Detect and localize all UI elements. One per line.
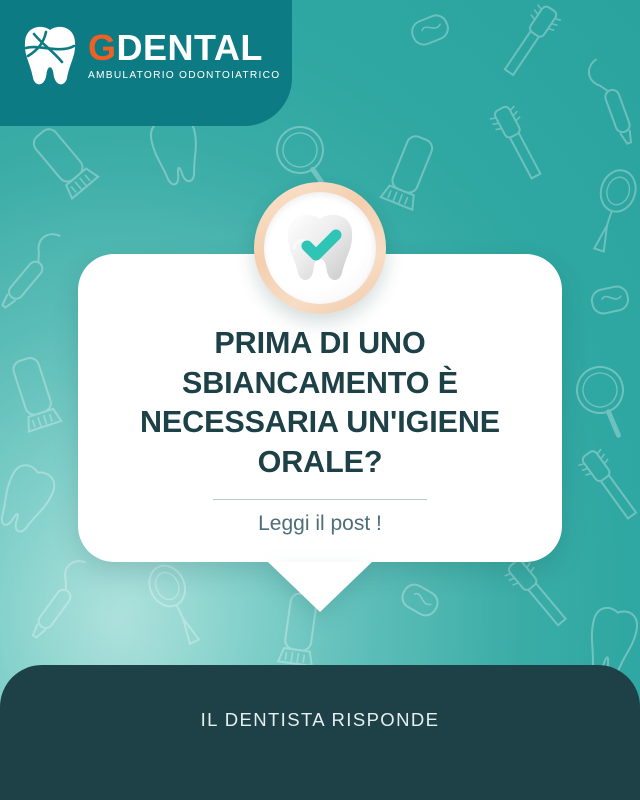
brand-name: DENTAL [117,30,263,66]
page-title: PRIMA DI UNO SBIANCAMENTO È NECESSARIA U… [112,324,528,483]
logo-lockup: GDENTAL AMBULATORIO ODONTOIATRICO [22,24,280,88]
brand-text: GDENTAL AMBULATORIO ODONTOIATRICO [88,30,280,81]
divider [213,499,427,500]
call-to-action-text: Leggi il post ! [112,512,528,536]
tooth-badge [254,182,386,314]
social-post-graphic: GDENTAL AMBULATORIO ODONTOIATRICO PRIMA … [0,0,640,800]
footer-bar: IL DENTISTA RISPONDE [0,665,640,800]
brand-wordmark: GDENTAL [88,30,280,66]
brand-header: GDENTAL AMBULATORIO ODONTOIATRICO [0,0,292,126]
tooth-logo-icon [22,24,78,88]
tooth-with-checkmark-icon [280,208,360,288]
brand-initial: G [88,30,117,66]
badge-inner-circle [264,192,376,304]
brand-subtitle: AMBULATORIO ODONTOIATRICO [88,71,280,81]
speech-bubble-tail [268,562,372,612]
footer-label: IL DENTISTA RISPONDE [201,709,440,731]
